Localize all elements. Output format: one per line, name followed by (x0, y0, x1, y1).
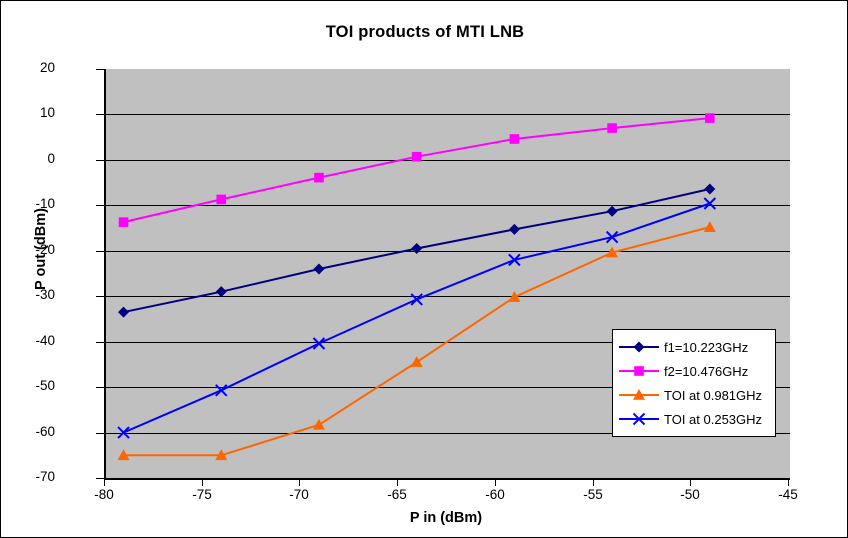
data-point-marker (607, 206, 618, 217)
x-axis-tick-mark (788, 478, 789, 486)
y-axis-tick-mark (96, 387, 104, 388)
legend-item-2: TOI at 0.981GHz (617, 383, 769, 407)
y-axis-tick-mark (96, 251, 104, 252)
data-point-marker (411, 243, 422, 254)
y-axis-tick-mark (96, 478, 104, 479)
data-point-marker (510, 134, 520, 144)
x-axis-tick-mark (593, 478, 594, 486)
legend-item-3: TOI at 0.253GHz (617, 407, 769, 431)
legend-item-1: f2=10.476GHz (617, 359, 769, 383)
y-axis-tick-mark (96, 69, 104, 70)
y-axis-tick-mark (96, 205, 104, 206)
data-point-marker (704, 221, 716, 232)
data-point-marker (313, 263, 324, 274)
data-point-marker (411, 294, 422, 305)
data-point-marker (607, 123, 617, 133)
x-axis-tick-label: -60 (465, 487, 525, 502)
y-axis-title: P out (dBm) (33, 169, 49, 329)
legend-swatch-square-icon (617, 361, 661, 381)
y-axis-tick-mark (96, 342, 104, 343)
y-axis-tick-label: 20 (0, 60, 55, 75)
chart-page: TOI products of MTI LNB 20100-10-20-30-4… (0, 0, 848, 538)
chart-title: TOI products of MTI LNB (1, 23, 848, 42)
data-point-marker (705, 113, 715, 123)
legend-item-0: f1=10.223GHz (617, 335, 769, 359)
y-axis-tick-mark (96, 160, 104, 161)
x-axis-tick-mark (299, 478, 300, 486)
legend-label: TOI at 0.981GHz (661, 388, 762, 403)
data-point-marker (634, 366, 644, 376)
data-point-marker (216, 195, 226, 205)
legend-swatch-triangle-icon (617, 385, 661, 405)
data-point-marker (509, 224, 520, 235)
data-point-marker (313, 419, 325, 430)
data-point-marker (704, 183, 715, 194)
data-point-marker (118, 307, 129, 318)
data-point-marker (508, 291, 520, 302)
x-axis-tick-label: -55 (563, 487, 623, 502)
y-axis-tick-mark (96, 114, 104, 115)
x-axis-tick-mark (104, 478, 105, 486)
series-line-1 (124, 118, 710, 222)
y-axis-tick-label: 10 (0, 105, 55, 120)
data-point-marker (314, 173, 324, 183)
legend-label: f1=10.223GHz (661, 340, 748, 355)
data-point-marker (704, 198, 715, 209)
legend-swatch-cross-icon (617, 409, 661, 429)
data-point-marker (412, 152, 422, 162)
y-axis-tick-label: -70 (0, 469, 55, 484)
data-point-marker (216, 385, 227, 396)
x-axis-tick-label: -45 (758, 487, 818, 502)
data-point-marker (313, 338, 324, 349)
y-axis-tick-mark (96, 433, 104, 434)
x-axis-tick-mark (495, 478, 496, 486)
y-axis-tick-label: -40 (0, 333, 55, 348)
chart-legend: f1=10.223GHzf2=10.476GHzTOI at 0.981GHzT… (612, 329, 776, 437)
x-axis-tick-label: -75 (172, 487, 232, 502)
x-axis-tick-label: -80 (74, 487, 134, 502)
data-point-marker (118, 427, 129, 438)
x-axis-title: P in (dBm) (104, 510, 788, 526)
x-axis-tick-mark (202, 478, 203, 486)
y-axis-tick-label: -50 (0, 378, 55, 393)
y-axis-tick-mark (96, 296, 104, 297)
x-axis-tick-label: -65 (367, 487, 427, 502)
data-point-marker (634, 342, 645, 353)
data-point-marker (411, 356, 423, 367)
x-axis-tick-label: -50 (660, 487, 720, 502)
legend-label: TOI at 0.253GHz (661, 412, 762, 427)
y-axis-tick-label: -60 (0, 424, 55, 439)
legend-label: f2=10.476GHz (661, 364, 748, 379)
y-axis-tick-label: 0 (0, 151, 55, 166)
x-axis-tick-mark (397, 478, 398, 486)
data-point-marker (216, 286, 227, 297)
x-axis-tick-mark (690, 478, 691, 486)
x-axis-tick-label: -70 (269, 487, 329, 502)
data-point-marker (119, 217, 129, 227)
legend-swatch-diamond-icon (617, 337, 661, 357)
